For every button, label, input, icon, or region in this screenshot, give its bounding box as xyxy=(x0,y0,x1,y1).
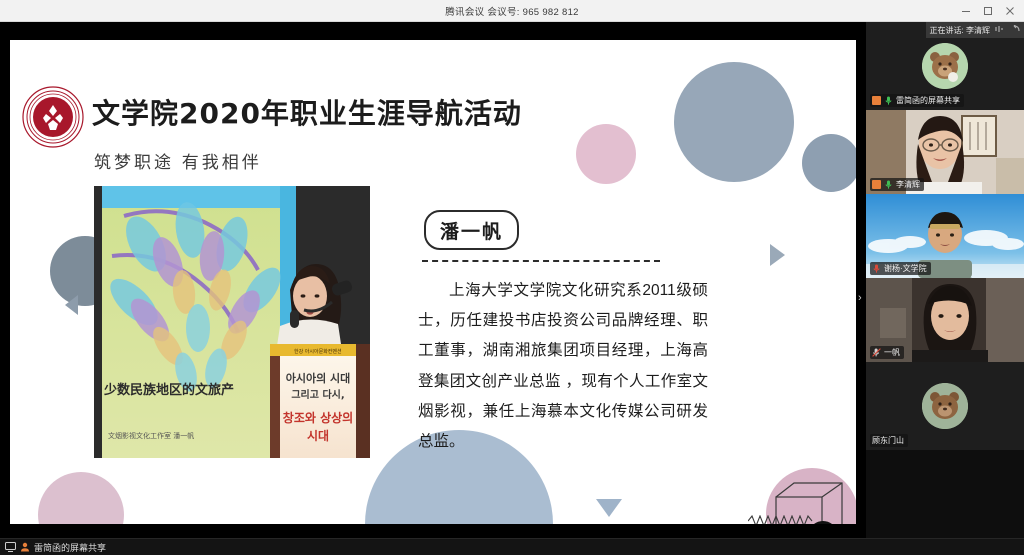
dashed-divider xyxy=(422,260,660,262)
decorative-triangle-bottom xyxy=(596,499,622,517)
window-title: 腾讯会议 会议号: 965 982 812 xyxy=(445,4,579,18)
decorative-circle-pink-top xyxy=(576,124,636,184)
svg-text:少数民族地区的文旅产: 少数民族地区的文旅产 xyxy=(103,382,234,398)
participant-tile-video-3[interactable]: 一帆 xyxy=(866,278,1024,362)
speaker-name-box: 潘一帆 xyxy=(424,210,519,250)
participant-name: 雷简函的屏幕共享 xyxy=(896,95,960,106)
decorative-zigzag xyxy=(748,514,814,524)
screen-share-icon xyxy=(872,96,881,105)
status-bar: 雷简函的屏幕共享 xyxy=(0,538,1024,555)
audio-wave-icon xyxy=(994,25,1006,35)
participant-name: 一帆 xyxy=(884,347,900,358)
decorative-triangle-right xyxy=(770,244,785,266)
speaker-bio: 上海大学文学院文化研究系2011级硕士，历任建投书店投资公司品牌经理、职工董事，… xyxy=(418,276,708,457)
svg-text:한강 아시아문화컨벤션: 한강 아시아문화컨벤션 xyxy=(294,348,342,355)
participant-tile-screenshare[interactable]: 正在讲话: 李清辉 xyxy=(866,22,1024,110)
svg-text:그리고 다시,: 그리고 다시, xyxy=(291,388,344,401)
mic-on-icon xyxy=(884,96,893,105)
participant-tile-avatar-2[interactable]: 顾东门山 xyxy=(866,362,1024,450)
mic-on-icon xyxy=(884,180,893,189)
mic-on-icon xyxy=(872,264,881,273)
participant-badge: 一帆 xyxy=(870,346,904,359)
participant-name: 顾东门山 xyxy=(872,435,904,446)
avatar xyxy=(922,43,968,89)
decorative-circle-gray-top-right xyxy=(674,62,794,182)
title-bar: 腾讯会议 会议号: 965 982 812 xyxy=(0,0,1024,22)
decorative-triangle-left xyxy=(65,295,78,315)
speaker-name: 潘一帆 xyxy=(440,217,503,244)
participant-badge: 顾东门山 xyxy=(870,434,908,447)
svg-text:창조와 상상의: 창조와 상상의 xyxy=(283,410,353,425)
presentation-slide: 文学院2020年职业生涯导航活动 筑梦职途 有我相伴 xyxy=(10,40,856,524)
slide-title: 文学院2020年职业生涯导航活动 xyxy=(92,92,522,132)
participant-badge: 谢杨·文学院 xyxy=(870,262,931,275)
university-logo-icon xyxy=(22,86,84,148)
participant-name: 李清辉 xyxy=(896,179,920,190)
participant-tile-video-2[interactable]: 谢杨·文学院 xyxy=(866,194,1024,278)
share-icon xyxy=(20,542,30,552)
minimize-button[interactable] xyxy=(956,2,976,20)
decorative-circle-gray-top-right-2 xyxy=(802,134,856,192)
svg-text:文烟影视文化工作室 潘一帆: 文烟影视文化工作室 潘一帆 xyxy=(108,431,194,440)
maximize-button[interactable] xyxy=(978,2,998,20)
screen-share-icon xyxy=(872,180,881,189)
speaker-photo: 少数民族地区的文旅产 文烟影视文化工作室 潘一帆 xyxy=(94,186,370,458)
participant-name: 谢杨·文学院 xyxy=(884,263,927,274)
svg-text:시대: 시대 xyxy=(307,429,329,443)
speaking-banner: 正在讲话: 李清辉 xyxy=(926,22,1024,38)
monitor-icon xyxy=(5,542,16,552)
shared-screen-stage[interactable]: 文学院2020年职业生涯导航活动 筑梦职途 有我相伴 xyxy=(0,22,866,538)
svg-text:아시아의 시대: 아시아의 시대 xyxy=(286,371,351,385)
mic-off-icon xyxy=(872,348,881,357)
avatar xyxy=(922,383,968,429)
participant-rail: 正在讲话: 李清辉 xyxy=(866,22,1024,538)
participant-badge: 雷简函的屏幕共享 xyxy=(870,94,964,107)
participant-tile-video-1[interactable]: 李清辉 xyxy=(866,110,1024,194)
meeting-window: 腾讯会议 会议号: 965 982 812 xyxy=(0,0,1024,555)
decorative-circle-pink-bottom-left xyxy=(38,472,124,524)
participant-badge: 李清辉 xyxy=(870,178,924,191)
window-controls xyxy=(956,0,1020,22)
speaking-label: 正在讲话: 李清辉 xyxy=(930,25,990,36)
status-share-label: 雷简函的屏幕共享 xyxy=(34,541,106,554)
close-button[interactable] xyxy=(1000,2,1020,20)
rail-collapse-arrow-icon[interactable]: › xyxy=(858,292,862,304)
collapse-rail-icon[interactable] xyxy=(1010,25,1020,35)
slide-subtitle: 筑梦职途 有我相伴 xyxy=(94,148,262,173)
